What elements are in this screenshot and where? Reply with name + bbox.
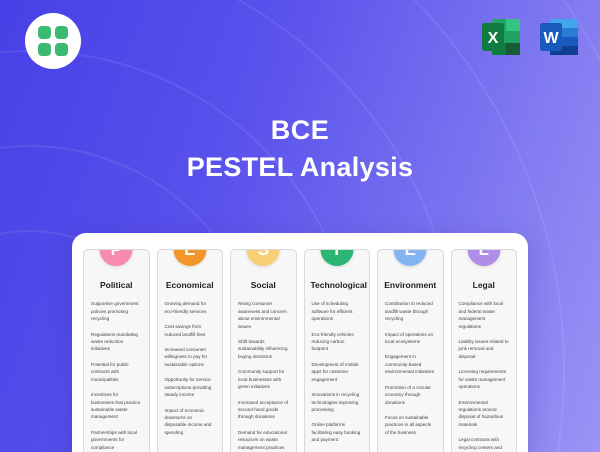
brand-logo [25,13,81,69]
list-item: Development of mobile apps for customer … [312,361,363,383]
pestel-column-social[interactable]: S Social Rising consumer awareness and c… [230,249,297,452]
list-item: Promotion of a circular economy through … [385,384,436,406]
column-title-economical: Economical [164,280,217,290]
list-item: Partnerships with local governments for … [91,429,142,451]
bullet-list-legal: Compliance with local and federal waste … [458,300,511,452]
list-item: Opportunity for service subscriptions pr… [165,376,216,398]
column-badge-e1: E [173,249,206,266]
list-item: Increased acceptance of second-hand good… [238,399,289,421]
list-item: Liability issues related to junk removal… [459,338,510,360]
list-item: Growing demand for eco-friendly services [165,300,216,315]
list-item: Impact of operations on local ecosystems [385,331,436,346]
column-badge-t: T [320,249,353,266]
presentation-slide: X W BCE PESTEL Analysis P Political Supp… [0,0,600,452]
microsoft-word-icon[interactable]: W [536,14,582,60]
pestel-column-technological[interactable]: T Technological Use of scheduling softwa… [304,249,371,452]
column-badge-l: L [467,249,500,266]
slide-title: BCE PESTEL Analysis [0,114,600,187]
column-badge-e2: E [394,249,427,266]
column-title-legal: Legal [458,280,511,290]
list-item: Cost savings from reduced landfill fees [165,323,216,338]
list-item: Innovations in recycling technologies im… [312,391,363,413]
list-item: Compliance with local and federal waste … [459,300,510,330]
list-item: Online platforms facilitating easy booki… [312,421,363,443]
column-title-environment: Environment [384,280,437,290]
list-item: Shift towards sustainability influencing… [238,338,289,360]
pestel-column-political[interactable]: P Political Supportive government polici… [83,249,150,452]
list-item: Incentives for businesses that practice … [91,391,142,421]
pestel-column-environment[interactable]: E Environment Contribution to reduced la… [377,249,444,452]
bullet-list-economical: Growing demand for eco-friendly services… [164,300,217,450]
pestel-column-economical[interactable]: E Economical Growing demand for eco-frie… [157,249,224,452]
column-title-political: Political [90,280,143,290]
list-item: Potential for public contracts with muni… [91,361,142,383]
title-line-2: PESTEL Analysis [0,148,600,187]
title-line-1: BCE [0,114,600,148]
list-item: Eco-friendly vehicles reducing carbon fo… [312,331,363,353]
list-item: Demand for educational resources on wast… [238,429,289,451]
bullet-list-technological: Use of scheduling software for efficient… [311,300,364,450]
list-item: Environmental regulations around disposa… [459,399,510,429]
svg-text:X: X [488,30,499,47]
column-title-social: Social [237,280,290,290]
column-badge-s: S [247,249,280,266]
list-item: Contribution to reduced landfill waste t… [385,300,436,322]
list-item: Licensing requirements for waste managem… [459,368,510,390]
list-item: Rising consumer awareness and concern ab… [238,300,289,330]
list-item: Impact of economic downturns on disposab… [165,407,216,437]
column-badge-p: P [100,249,133,266]
microsoft-excel-icon[interactable]: X [478,14,524,60]
svg-text:W: W [543,30,559,47]
list-item: Use of scheduling software for efficient… [312,300,363,322]
list-item: Regulations mandating waste reduction in… [91,331,142,353]
list-item: Increased consumer willingness to pay fo… [165,346,216,368]
list-item: Engagement in community-based environmen… [385,353,436,375]
list-item: Legal contracts with recycling centers a… [459,436,510,452]
office-app-icons: X W [478,14,582,60]
pestel-board: P Political Supportive government polici… [72,233,528,452]
bullet-list-environment: Contribution to reduced landfill waste t… [384,300,437,450]
bullet-list-social: Rising consumer awareness and concern ab… [237,300,290,451]
list-item: Community support for local businesses w… [238,368,289,390]
list-item: Focus on sustainable practices in all as… [385,414,436,436]
column-title-technological: Technological [311,280,364,290]
bullet-list-political: Supportive government policies promoting… [90,300,143,451]
pestel-column-legal[interactable]: L Legal Compliance with local and federa… [451,249,518,452]
four-square-grid-icon [38,26,68,56]
list-item: Supportive government policies promoting… [91,300,142,322]
